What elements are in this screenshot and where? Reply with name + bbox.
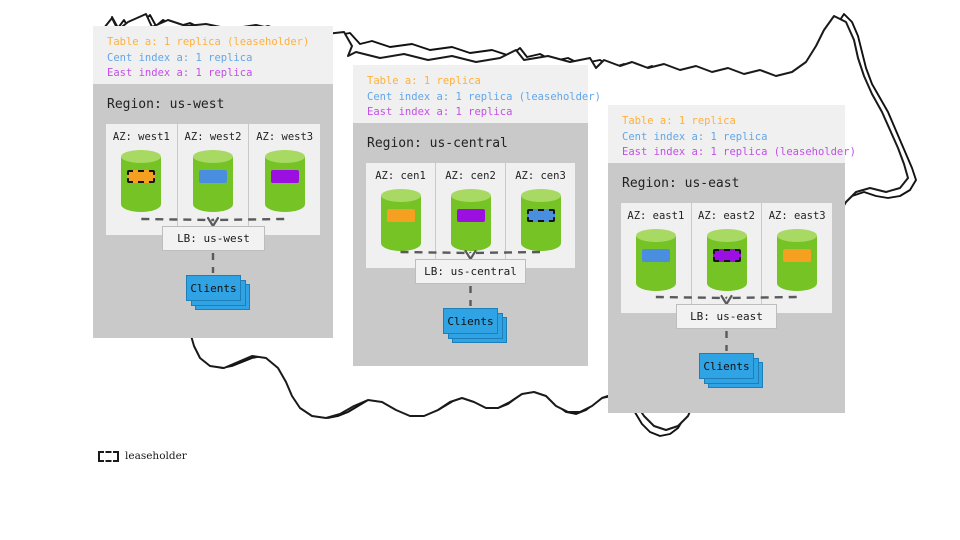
replica-bar-leaseholder [127,170,155,183]
region-cluster-us-east: Table a: 1 replicaCent index a: 1 replic… [608,105,845,413]
az-label: AZ: cen1 [375,170,426,182]
replica-bar [271,170,299,183]
replica-summary-panel-us-west: Table a: 1 replica (leaseholder)Cent ind… [93,26,333,84]
region-cluster-us-west: Table a: 1 replica (leaseholder)Cent ind… [93,26,333,338]
replica-bar-leaseholder [527,209,555,222]
replica-line-cent: Cent index a: 1 replica (leaseholder) [367,90,576,106]
cylinder-body [707,236,747,292]
cylinder-top-ellipse [521,189,561,202]
az-column-west3[interactable]: AZ: west3 [248,124,320,235]
leaseholder-dashed-rect-icon [98,451,119,462]
database-cylinder-icon [451,189,491,251]
replica-bar-leaseholder [713,249,741,262]
clients-stack-us-east[interactable]: Clients [699,353,763,388]
replica-bar [642,249,670,262]
replica-bar [457,209,485,222]
cylinder-body [521,196,561,252]
cylinder-top-ellipse [707,229,747,242]
region-box-us-west: Region: us-westAZ: west1AZ: west2AZ: wes… [93,84,333,338]
cylinder-top-ellipse [381,189,421,202]
clients-stack-us-west[interactable]: Clients [186,275,250,310]
replica-line-table: Table a: 1 replica (leaseholder) [107,35,321,51]
replica-line-east: East index a: 1 replica [367,105,576,121]
replica-line-east: East index a: 1 replica (leaseholder) [622,145,833,161]
database-cylinder-icon [636,229,676,291]
az-label: AZ: east1 [627,210,684,222]
cylinder-top-ellipse [777,229,817,242]
database-cylinder-icon [381,189,421,251]
az-label: AZ: west2 [185,131,242,143]
legend-label: leaseholder [125,450,187,462]
az-column-west1[interactable]: AZ: west1 [106,124,177,235]
az-strip-us-east: AZ: east1AZ: east2AZ: east3 [621,203,832,313]
replica-line-table: Table a: 1 replica [622,114,833,130]
az-strip-us-west: AZ: west1AZ: west2AZ: west3 [106,124,320,235]
az-column-west2[interactable]: AZ: west2 [177,124,249,235]
database-cylinder-icon [121,150,161,212]
cylinder-body [451,196,491,252]
replica-summary-panel-us-central: Table a: 1 replicaCent index a: 1 replic… [353,65,588,123]
region-box-us-east: Region: us-eastAZ: east1AZ: east2AZ: eas… [608,163,845,413]
clients-card-front[interactable]: Clients [443,308,498,334]
replica-line-table: Table a: 1 replica [367,74,576,90]
replica-bar [387,209,415,222]
az-label: AZ: west3 [256,131,313,143]
cylinder-body [121,157,161,213]
clients-card-front[interactable]: Clients [186,275,241,301]
cylinder-top-ellipse [451,189,491,202]
replica-bar [783,249,811,262]
az-column-east1[interactable]: AZ: east1 [621,203,691,313]
az-column-cen3[interactable]: AZ: cen3 [505,163,575,268]
az-label: AZ: cen2 [445,170,496,182]
az-label: AZ: cen3 [515,170,566,182]
database-cylinder-icon [521,189,561,251]
az-strip-us-central: AZ: cen1AZ: cen2AZ: cen3 [366,163,575,268]
az-column-cen1[interactable]: AZ: cen1 [366,163,435,268]
replica-summary-panel-us-east: Table a: 1 replicaCent index a: 1 replic… [608,105,845,163]
az-column-east3[interactable]: AZ: east3 [761,203,832,313]
replica-line-east: East index a: 1 replica [107,66,321,82]
load-balancer-us-west[interactable]: LB: us-west [162,226,265,251]
cylinder-body [265,157,305,213]
region-title-us-central: Region: us-central [353,123,588,163]
clients-card-front[interactable]: Clients [699,353,754,379]
database-cylinder-icon [777,229,817,291]
clients-stack-us-central[interactable]: Clients [443,308,507,343]
cylinder-body [777,236,817,292]
replica-bar [199,170,227,183]
cylinder-top-ellipse [193,150,233,163]
az-label: AZ: west1 [113,131,170,143]
region-title-us-east: Region: us-east [608,163,845,203]
replica-line-cent: Cent index a: 1 replica [622,130,833,146]
cylinder-body [193,157,233,213]
replica-line-cent: Cent index a: 1 replica [107,51,321,67]
az-column-cen2[interactable]: AZ: cen2 [435,163,505,268]
database-cylinder-icon [193,150,233,212]
cylinder-top-ellipse [636,229,676,242]
cylinder-body [381,196,421,252]
database-cylinder-icon [265,150,305,212]
load-balancer-us-central[interactable]: LB: us-central [415,259,526,284]
az-label: AZ: east2 [698,210,755,222]
az-column-east2[interactable]: AZ: east2 [691,203,762,313]
cylinder-top-ellipse [265,150,305,163]
region-box-us-central: Region: us-centralAZ: cen1AZ: cen2AZ: ce… [353,123,588,366]
database-cylinder-icon [707,229,747,291]
legend: leaseholder [98,450,187,462]
load-balancer-us-east[interactable]: LB: us-east [676,304,777,329]
az-label: AZ: east3 [769,210,826,222]
cylinder-body [636,236,676,292]
region-cluster-us-central: Table a: 1 replicaCent index a: 1 replic… [353,65,588,366]
region-title-us-west: Region: us-west [93,84,333,124]
